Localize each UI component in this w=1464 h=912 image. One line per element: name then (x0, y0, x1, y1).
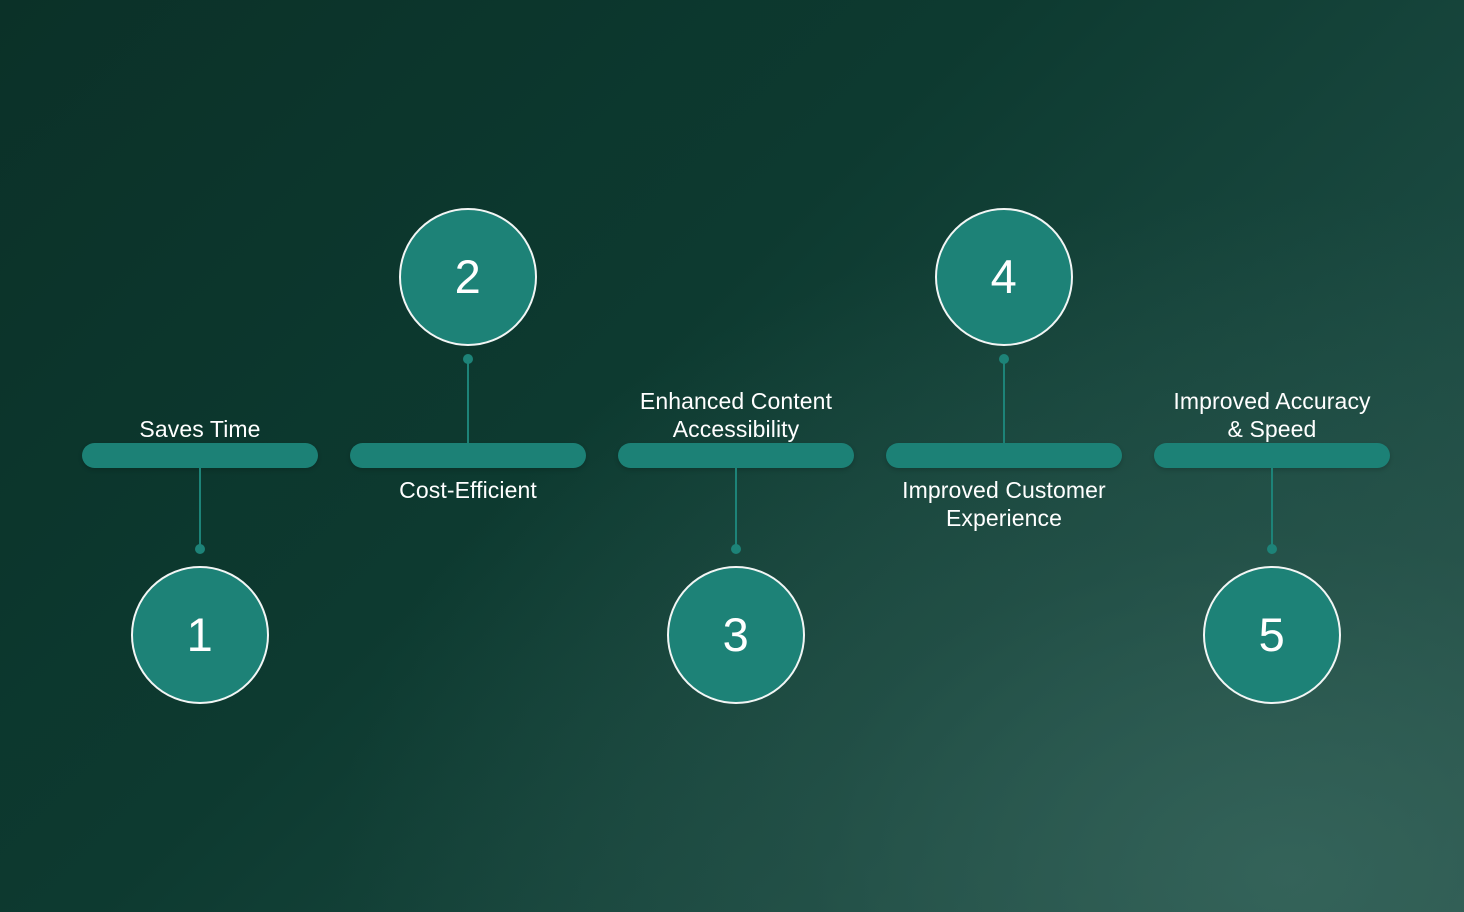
step-connector-dot-3 (731, 544, 741, 554)
step-number-3: 3 (723, 611, 750, 658)
step-connector-5 (1271, 468, 1273, 550)
step-label-1: Saves Time (52, 415, 348, 443)
step-connector-dot-1 (195, 544, 205, 554)
timeline-step-2: 2 Cost-Efficient (350, 0, 586, 912)
step-bar-5[interactable] (1154, 443, 1390, 468)
step-bar-1[interactable] (82, 443, 318, 468)
step-circle-3[interactable]: 3 (667, 566, 805, 704)
step-circle-5[interactable]: 5 (1203, 566, 1341, 704)
step-bar-3[interactable] (618, 443, 854, 468)
step-connector-2 (467, 358, 469, 443)
step-circle-4[interactable]: 4 (935, 208, 1073, 346)
timeline-step-1: Saves Time 1 (82, 0, 318, 912)
step-label-2: Cost-Efficient (320, 476, 616, 504)
step-number-1: 1 (187, 611, 214, 658)
step-connector-dot-5 (1267, 544, 1277, 554)
timeline-step-5: Improved Accuracy & Speed 5 (1154, 0, 1390, 912)
timeline-step-3: Enhanced Content Accessibility 3 (618, 0, 854, 912)
step-circle-1[interactable]: 1 (131, 566, 269, 704)
step-label-3: Enhanced Content Accessibility (588, 387, 884, 443)
step-connector-4 (1003, 358, 1005, 443)
step-label-4: Improved Customer Experience (856, 476, 1152, 532)
step-bar-4[interactable] (886, 443, 1122, 468)
infographic-canvas: Saves Time 1 2 Cost-Efficient Enhanced C… (0, 0, 1464, 912)
step-connector-1 (199, 468, 201, 550)
step-bar-2[interactable] (350, 443, 586, 468)
step-connector-3 (735, 468, 737, 550)
timeline-step-4: 4 Improved Customer Experience (886, 0, 1122, 912)
step-number-2: 2 (455, 253, 482, 300)
step-number-5: 5 (1259, 611, 1286, 658)
step-label-5: Improved Accuracy & Speed (1124, 387, 1420, 443)
step-number-4: 4 (991, 253, 1018, 300)
step-circle-2[interactable]: 2 (399, 208, 537, 346)
